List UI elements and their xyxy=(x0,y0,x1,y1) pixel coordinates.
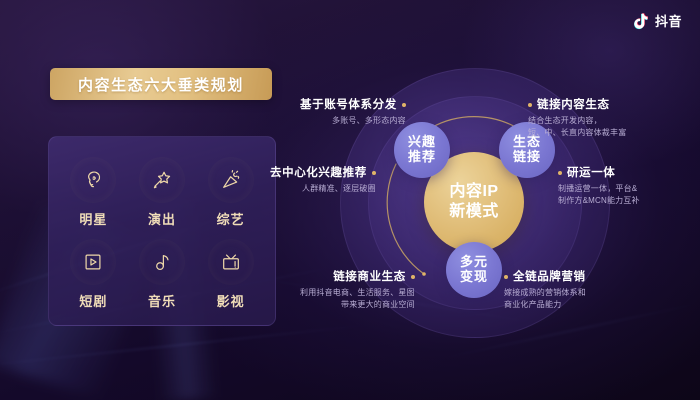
callout-title: 基于账号体系分发 xyxy=(300,96,406,112)
node-line-2: 链接 xyxy=(513,150,541,165)
node-line-1: 多元 xyxy=(460,255,488,270)
callout-title-text: 研运一体 xyxy=(567,167,615,179)
category-item-variety[interactable]: 综艺 xyxy=(196,151,265,233)
party-popper-icon xyxy=(208,157,254,203)
node-line-2: 变现 xyxy=(460,270,488,285)
callout-sub-line: 短、中、长直内容体裁丰富 xyxy=(528,127,626,139)
center-line-2: 新模式 xyxy=(449,202,499,222)
callout-subtitle: 嫁接成熟的营销体系和 商业化产品能力 xyxy=(504,287,586,312)
node-line-1: 兴趣 xyxy=(408,135,436,150)
callout-title-text: 去中心化兴趣推荐 xyxy=(270,167,367,179)
diagram-node-interest[interactable]: 兴趣 推荐 xyxy=(394,122,450,178)
bullet-dot-icon xyxy=(504,275,508,279)
retro-tv-icon xyxy=(208,239,254,285)
ip-model-diagram: 内容IP 新模式 兴趣 推荐 生态 链接 多元 变现 基于账号体系分发 多账号、… xyxy=(296,52,700,400)
callout-title: 链接内容生态 xyxy=(528,96,626,112)
callout-business-ecosystem: 链接商业生态 利用抖音电商、生活服务、星图 带来更大的商业空间 xyxy=(300,268,415,312)
node-line-2: 推荐 xyxy=(408,150,436,165)
center-line-1: 内容IP xyxy=(449,182,498,202)
douyin-note-icon xyxy=(633,12,650,31)
callout-title-text: 基于账号体系分发 xyxy=(300,99,397,111)
callout-sub-line: 利用抖音电商、生活服务、星图 xyxy=(300,287,415,299)
callout-sub-line: 制播运营一体，平台& xyxy=(558,183,640,195)
bullet-dot-icon xyxy=(402,103,406,107)
callout-title: 研运一体 xyxy=(558,164,640,180)
category-label: 演出 xyxy=(148,209,176,228)
bullet-dot-icon xyxy=(558,171,562,175)
category-label: 明星 xyxy=(79,209,107,228)
brand-logo: 抖音 xyxy=(633,12,682,31)
callout-sub-line: 人群精准、逐层破圈 xyxy=(270,183,376,195)
callout-title-text: 链接商业生态 xyxy=(333,271,406,283)
callout-subtitle: 制播运营一体，平台& 制作方&MCN能力互补 xyxy=(558,183,640,208)
category-label: 短剧 xyxy=(79,291,107,310)
category-item-music[interactable]: 音乐 xyxy=(128,233,197,315)
callout-title: 全链品牌营销 xyxy=(504,268,586,284)
callout-decentralized-recommendation: 去中心化兴趣推荐 人群精准、逐层破圈 xyxy=(270,164,376,195)
diagram-node-monetization[interactable]: 多元 变现 xyxy=(446,242,502,298)
section-title-text: 内容生态六大垂类规划 xyxy=(78,74,244,95)
callout-title: 去中心化兴趣推荐 xyxy=(270,164,376,180)
section-title-banner: 内容生态六大垂类规划 xyxy=(50,68,272,100)
callout-subtitle: 人群精准、逐层破圈 xyxy=(270,183,376,195)
callout-account-distribution: 基于账号体系分发 多账号、多形态内容 xyxy=(300,96,406,127)
bullet-dot-icon xyxy=(411,275,415,279)
play-square-icon xyxy=(70,239,116,285)
category-item-film[interactable]: 影视 xyxy=(196,233,265,315)
magic-wand-star-icon xyxy=(139,157,185,203)
callout-title-text: 全链品牌营销 xyxy=(513,271,586,283)
callout-subtitle: 多账号、多形态内容 xyxy=(300,115,406,127)
callout-sub-line: 结合生态开发内容， xyxy=(528,115,626,127)
callout-subtitle: 利用抖音电商、生活服务、星图 带来更大的商业空间 xyxy=(300,287,415,312)
category-label: 综艺 xyxy=(217,209,245,228)
callout-sub-line: 嫁接成熟的营销体系和 xyxy=(504,287,586,299)
callout-sub-line: 带来更大的商业空间 xyxy=(300,299,415,311)
brand-name: 抖音 xyxy=(655,15,682,28)
music-note-icon xyxy=(139,239,185,285)
star-face-icon xyxy=(70,157,116,203)
category-item-shortdrama[interactable]: 短剧 xyxy=(59,233,128,315)
category-card: 明星 演出 综艺 xyxy=(48,136,276,326)
callout-subtitle: 结合生态开发内容， 短、中、长直内容体裁丰富 xyxy=(528,115,626,140)
callout-sub-line: 多账号、多形态内容 xyxy=(300,115,406,127)
category-item-performance[interactable]: 演出 xyxy=(128,151,197,233)
slide-canvas: 抖音 内容生态六大垂类规划 明星 xyxy=(0,0,700,400)
callout-sub-line: 制作方&MCN能力互补 xyxy=(558,195,640,207)
bullet-dot-icon xyxy=(528,103,532,107)
callout-full-chain-marketing: 全链品牌营销 嫁接成熟的营销体系和 商业化产品能力 xyxy=(504,268,586,312)
category-label: 影视 xyxy=(217,291,245,310)
category-item-star[interactable]: 明星 xyxy=(59,151,128,233)
callout-content-ecosystem: 链接内容生态 结合生态开发内容， 短、中、长直内容体裁丰富 xyxy=(528,96,626,140)
callout-integrated-production: 研运一体 制播运营一体，平台& 制作方&MCN能力互补 xyxy=(558,164,640,208)
bullet-dot-icon xyxy=(372,171,376,175)
category-label: 音乐 xyxy=(148,291,176,310)
callout-title: 链接商业生态 xyxy=(300,268,415,284)
callout-sub-line: 商业化产品能力 xyxy=(504,299,586,311)
callout-title-text: 链接内容生态 xyxy=(537,99,610,111)
